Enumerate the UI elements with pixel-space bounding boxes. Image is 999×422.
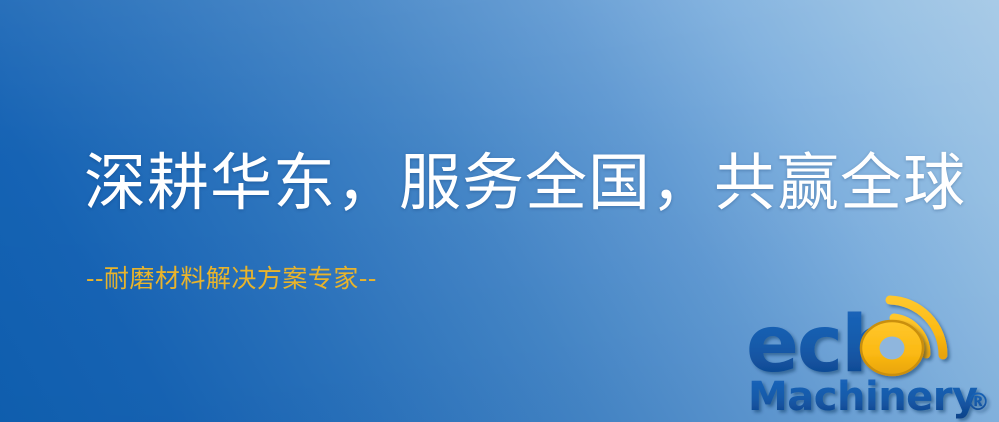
banner-headline: 深耕华东，服务全国，共赢全球 xyxy=(84,150,966,217)
echo-machinery-logo: ech Machinery ® xyxy=(744,292,999,422)
promo-banner: 深耕华东，服务全国，共赢全球 --耐磨材料解决方案专家-- xyxy=(0,0,999,422)
logo-word-machinery: Machinery xyxy=(748,374,978,420)
banner-subtitle: --耐磨材料解决方案专家-- xyxy=(86,264,377,294)
logo-letter-o xyxy=(861,321,923,375)
registered-trademark-icon: ® xyxy=(966,388,990,416)
